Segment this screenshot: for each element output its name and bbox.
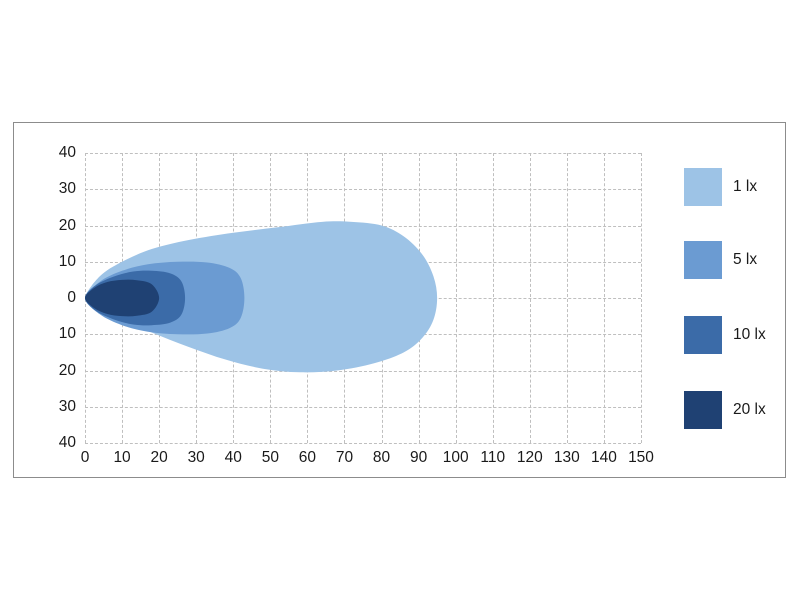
x-axis-tick-label: 130 [554, 449, 580, 467]
x-axis-tick-label: 120 [517, 449, 543, 467]
plot-area [85, 153, 641, 443]
x-axis-tick-label: 100 [443, 449, 469, 467]
x-axis-tick-label: 40 [225, 449, 242, 467]
x-axis-tick-label: 30 [188, 449, 205, 467]
x-axis-tick-labels: 0102030405060708090100110120130140150 [85, 449, 641, 473]
x-axis-tick-label: 150 [628, 449, 654, 467]
x-axis-tick-label: 50 [262, 449, 279, 467]
light-beam-pattern-chart: 40302010010203040 0102030405060708090100… [0, 0, 800, 600]
beam-isolux-areas [85, 153, 641, 443]
legend-item-label: 20 lx [733, 401, 766, 419]
gridline-horizontal [85, 443, 641, 444]
y-axis-tick-label: 40 [59, 144, 76, 162]
x-axis-tick-label: 70 [336, 449, 353, 467]
x-axis-tick-label: 80 [373, 449, 390, 467]
legend-item-label: 5 lx [733, 251, 757, 269]
x-axis-tick-label: 110 [480, 449, 505, 467]
x-axis-tick-label: 60 [299, 449, 316, 467]
y-axis-tick-label: 40 [59, 434, 76, 452]
legend-color-swatch [684, 316, 722, 354]
y-axis-tick-labels: 40302010010203040 [42, 153, 76, 443]
y-axis-tick-label: 0 [67, 289, 76, 307]
chart-frame: 40302010010203040 0102030405060708090100… [13, 122, 786, 478]
legend-color-swatch [684, 391, 722, 429]
y-axis-tick-label: 20 [59, 217, 76, 235]
y-axis-tick-label: 20 [59, 362, 76, 380]
legend-item[interactable]: 10 lx [684, 316, 784, 354]
x-axis-tick-label: 90 [410, 449, 427, 467]
y-axis-tick-label: 30 [59, 180, 76, 198]
legend-item-label: 10 lx [733, 326, 766, 344]
x-axis-tick-label: 140 [591, 449, 617, 467]
legend-color-swatch [684, 168, 722, 206]
legend-item-label: 1 lx [733, 178, 757, 196]
gridline-vertical [641, 153, 642, 443]
x-axis-tick-label: 20 [151, 449, 168, 467]
legend-item[interactable]: 5 lx [684, 241, 784, 279]
legend-item[interactable]: 20 lx [684, 391, 784, 429]
legend-color-swatch [684, 241, 722, 279]
legend-item[interactable]: 1 lx [684, 168, 784, 206]
y-axis-tick-label: 10 [59, 325, 76, 343]
x-axis-tick-label: 0 [81, 449, 90, 467]
x-axis-tick-label: 10 [113, 449, 130, 467]
y-axis-tick-label: 30 [59, 398, 76, 416]
chart-legend: 1 lx5 lx10 lx20 lx [684, 168, 784, 458]
y-axis-tick-label: 10 [59, 253, 76, 271]
